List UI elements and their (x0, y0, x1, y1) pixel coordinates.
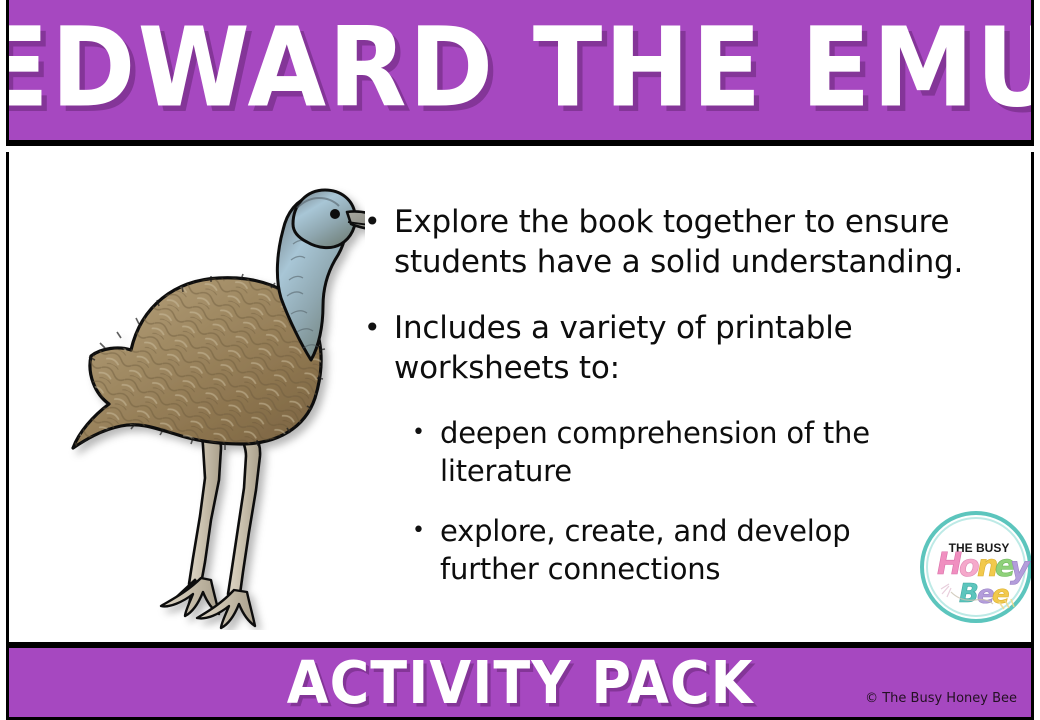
svg-text:y: y (1010, 551, 1031, 586)
header-band: EDWARD THE EMU (6, 0, 1034, 146)
main-content-area: • Explore the book together to ensure st… (6, 152, 1034, 642)
list-item: • Explore the book together to ensure st… (364, 202, 1004, 282)
list-item: • deepen comprehension of the literature (412, 414, 1004, 490)
footer-band: ACTIVITY PACK © The Busy Honey Bee (6, 642, 1034, 720)
list-item-text: Explore the book together to ensure stud… (394, 202, 974, 282)
bullet-marker-icon: • (412, 512, 440, 550)
bullet-marker-icon: • (364, 202, 394, 242)
list-item-text: Includes a variety of printable workshee… (394, 308, 974, 388)
list-item-text: deepen comprehension of the literature (440, 414, 940, 490)
activity-pack-cover: EDWARD THE EMU (0, 0, 1040, 720)
bullet-marker-icon: • (412, 414, 440, 452)
copyright-notice: © The Busy Honey Bee (865, 691, 1017, 707)
svg-text:B: B (959, 579, 979, 609)
list-item-text: explore, create, and develop further con… (440, 512, 940, 588)
feature-bullet-list: • Explore the book together to ensure st… (364, 202, 1004, 610)
footer-title: ACTIVITY PACK (287, 651, 754, 715)
emu-illustration (35, 160, 365, 630)
bullet-marker-icon: • (364, 308, 394, 348)
page-title: EDWARD THE EMU (6, 11, 1034, 130)
list-item: • Includes a variety of printable worksh… (364, 308, 1004, 388)
the-busy-honey-bee-logo: THE BUSY H o n e y B e e (915, 506, 1034, 628)
